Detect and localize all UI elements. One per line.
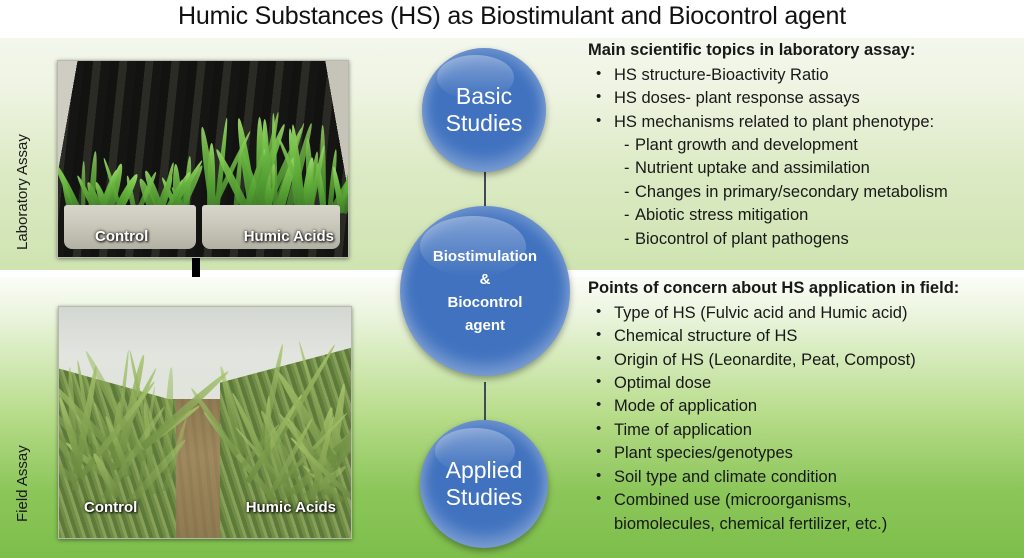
laboratory-sub-bullet-item: Plant growth and development [588,134,1024,157]
circle-center-line3: Biocontrol [447,294,522,311]
circle-center-line4: agent [465,317,505,334]
field-bullet-item: Type of HS (Fulvic acid and Humic acid) [588,302,1024,325]
field-bullet-item: Mode of application [588,395,1024,418]
circle-biostimulation-biocontrol[interactable]: Biostimulation & Biocontrol agent [400,206,570,376]
field-bullet-item: Soil type and climate condition [588,466,1024,489]
infographic-page: Humic Substances (HS) as Biostimulant an… [0,0,1024,558]
circle-center-label: Biostimulation & Biocontrol agent [427,245,543,338]
sugarcane-field-photo: Control Humic Acids [58,306,352,539]
circle-basic-studies[interactable]: Basic Studies [422,48,546,172]
circle-basic-studies-label: Basic Studies [440,83,529,137]
field-bullet-item: Combined use (microorganisms, [588,489,1024,512]
laboratory-sub-bullet-item: Biocontrol of plant pathogens [588,228,1024,251]
laboratory-bullet-item: HS doses- plant response assays [588,87,1024,110]
circle-applied-studies[interactable]: Applied Studies [420,420,548,548]
page-title: Humic Substances (HS) as Biostimulant an… [0,2,1024,31]
side-label-field-assay: Field Assay [14,445,31,522]
side-label-laboratory-assay: Laboratory Assay [14,134,31,250]
photo-caption-humic-acids-field: Humic Acids [246,499,336,516]
field-bullet-item: Plant species/genotypes [588,442,1024,465]
circle-center-line2: & [480,271,491,288]
connector-center-to-applied [484,382,486,424]
laboratory-sub-bullet-item: Changes in primary/secondary metabolism [588,181,1024,204]
laboratory-bullet-item: HS mechanisms related to plant phenotype… [588,111,1024,134]
circle-basic-line2: Studies [446,110,523,136]
field-bullet-list: Type of HS (Fulvic acid and Humic acid)C… [588,302,1024,513]
field-concerns-heading: Points of concern about HS application i… [588,278,1024,300]
photo-caption-control-field: Control [84,499,137,516]
laboratory-topics-block: Main scientific topics in laboratory ass… [588,40,1024,251]
laboratory-topics-heading: Main scientific topics in laboratory ass… [588,40,1024,62]
field-bullet-item: Optimal dose [588,372,1024,395]
field-bullet-item: Origin of HS (Leonardite, Peat, Compost) [588,349,1024,372]
field-bullet-item: Chemical structure of HS [588,325,1024,348]
circle-basic-line1: Basic [456,83,512,109]
photo-caption-control-lab: Control [95,228,148,245]
laboratory-sub-bullet-list: Plant growth and developmentNutrient upt… [588,134,1024,251]
laboratory-sub-bullet-item: Nutrient uptake and assimilation [588,157,1024,180]
photo-caption-humic-acids-lab: Humic Acids [244,228,334,245]
circle-applied-line1: Applied [446,457,523,483]
laboratory-seedling-trays-photo: Control Humic Acids [57,60,349,258]
field-concerns-block: Points of concern about HS application i… [588,278,1024,536]
laboratory-bullet-list: HS structure-Bioactivity RatioHS doses- … [588,64,1024,134]
circle-center-line1: Biostimulation [433,248,537,265]
circle-applied-studies-label: Applied Studies [440,457,529,511]
field-bullet-item: Time of application [588,419,1024,442]
laboratory-sub-bullet-item: Abiotic stress mitigation [588,204,1024,227]
laboratory-bullet-item: HS structure-Bioactivity Ratio [588,64,1024,87]
field-bullet-continuation: biomolecules, chemical fertilizer, etc.) [588,513,1024,536]
circle-applied-line2: Studies [446,484,523,510]
